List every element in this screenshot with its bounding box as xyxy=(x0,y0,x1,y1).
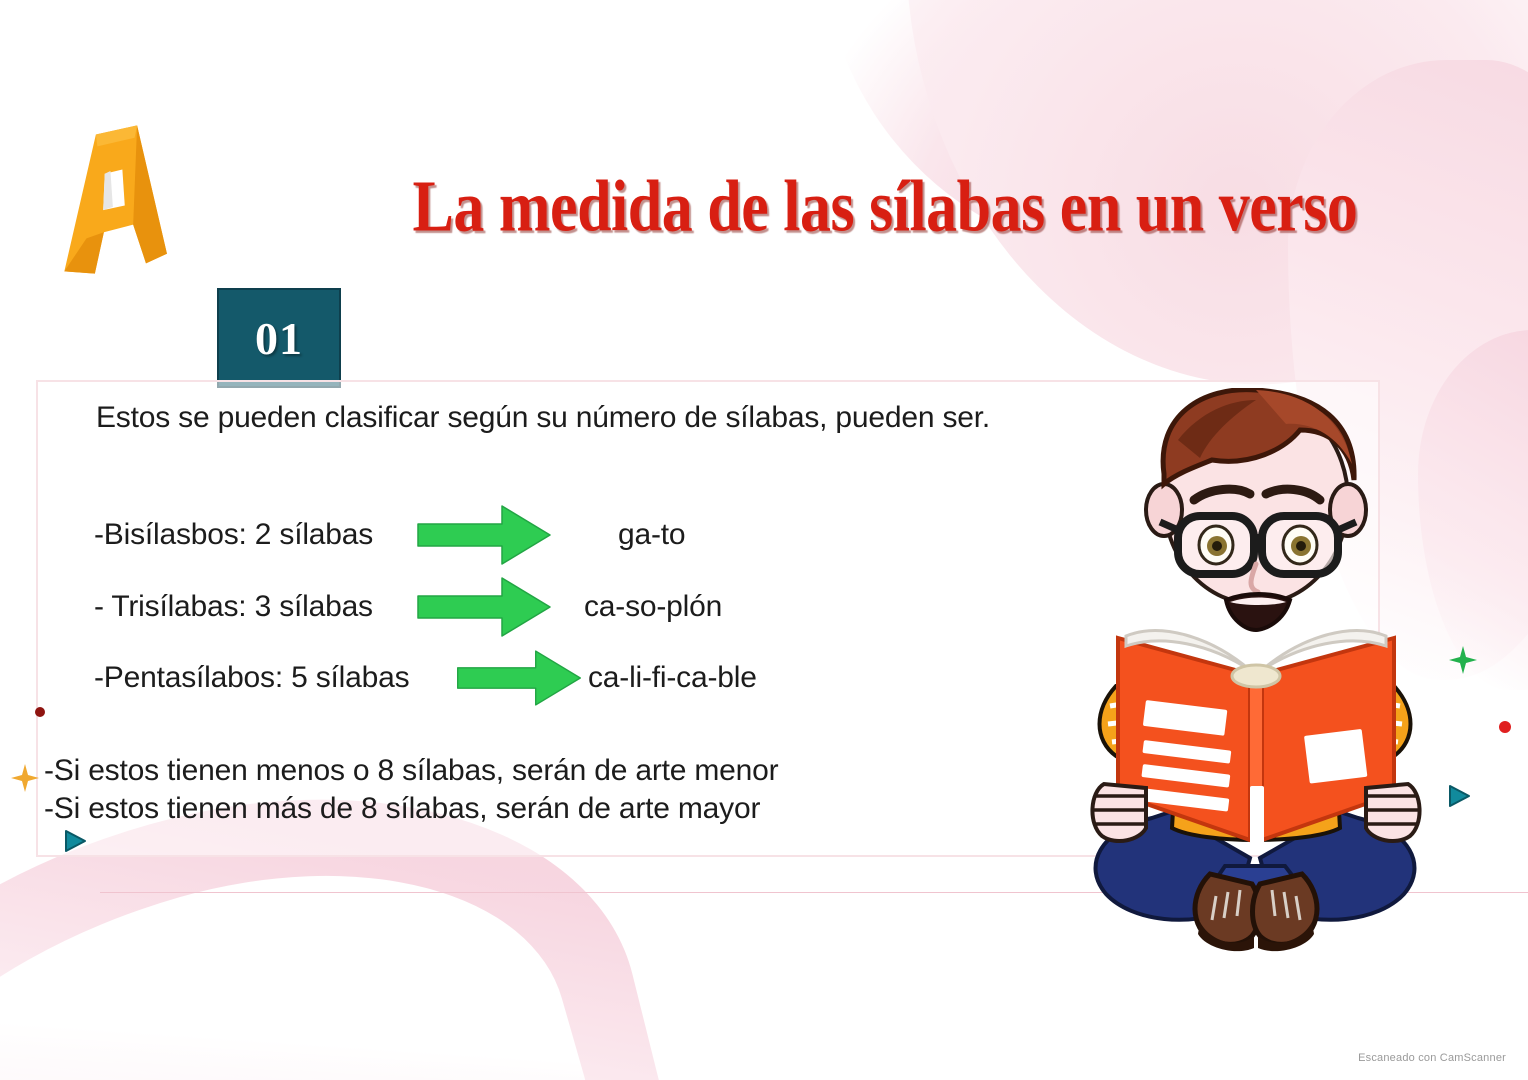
syllable-row: -Bisílasbos: 2 sílabas ga-to xyxy=(94,505,685,565)
syllable-row-example: ga-to xyxy=(618,518,685,552)
section-number-label: 01 xyxy=(255,312,303,365)
boy-reading-book-icon xyxy=(1060,388,1450,958)
green-right-arrow-icon xyxy=(454,645,584,711)
note-line: -Si estos tienen menos o 8 sílabas, será… xyxy=(44,752,778,790)
notes-block: -Si estos tienen menos o 8 sílabas, será… xyxy=(44,752,778,829)
triangle-right-icon xyxy=(62,828,88,859)
syllable-row: - Trisílabas: 3 sílabas ca-so-plón xyxy=(94,577,722,637)
triangle-right-icon xyxy=(1446,783,1472,814)
syllable-row-label: -Bisílasbos: 2 sílabas xyxy=(94,518,414,552)
syllable-row-label: -Pentasílabos: 5 sílabas xyxy=(94,661,454,695)
camscanner-watermark: Escaneado con CamScanner xyxy=(1358,1052,1506,1064)
syllable-row-example: ca-li-fi-ca-ble xyxy=(588,661,757,695)
dot-icon xyxy=(33,705,47,724)
slide-header: 01 La medida de las sílabas en un verso xyxy=(0,110,1460,360)
green-right-arrow-icon xyxy=(414,574,564,640)
letter-a-3d-icon xyxy=(42,115,182,285)
page-title: La medida de las sílabas en un verso xyxy=(350,168,1420,247)
plus-icon xyxy=(10,763,40,798)
syllable-row-label: - Trisílabas: 3 sílabas xyxy=(94,590,414,624)
note-line: -Si estos tienen más de 8 sílabas, serán… xyxy=(44,790,778,828)
intro-paragraph: Estos se pueden clasificar según su núme… xyxy=(96,398,1076,438)
section-number-badge: 01 xyxy=(217,288,341,388)
green-right-arrow-icon xyxy=(414,502,574,568)
syllable-row: -Pentasílabos: 5 sílabas ca-li-fi-ca-ble xyxy=(94,648,757,708)
dot-icon xyxy=(1497,719,1513,740)
syllable-row-example: ca-so-plón xyxy=(584,590,722,624)
slide-canvas: 01 La medida de las sílabas en un verso … xyxy=(0,0,1528,1080)
plus-icon xyxy=(1448,645,1478,680)
